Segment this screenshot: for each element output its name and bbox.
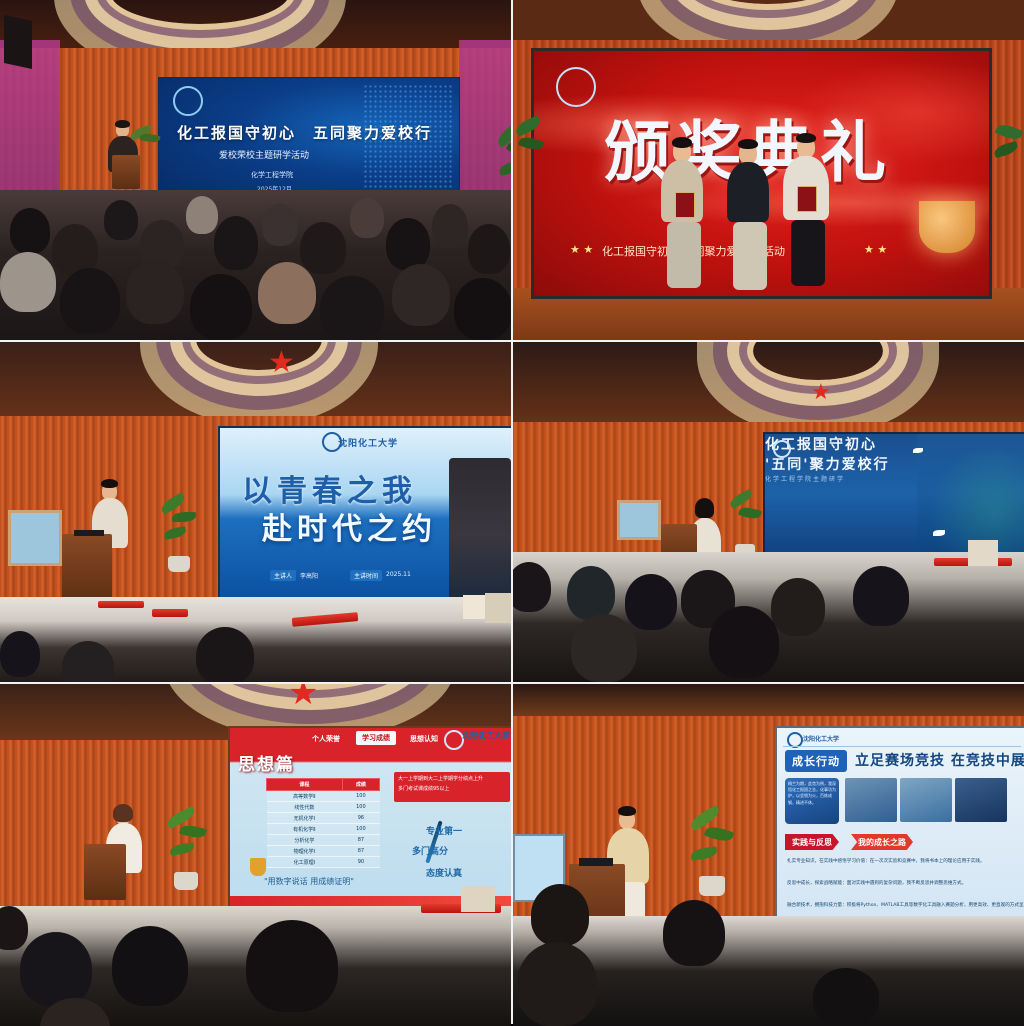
university-emblem-icon	[556, 67, 596, 107]
university-emblem-icon	[444, 730, 464, 750]
cell-score: 96	[342, 813, 379, 824]
chevron-practice-reflection: 实践与反思	[785, 834, 839, 850]
table-row: 无机化学Ⅰ96	[267, 813, 380, 824]
table-row: 物理化学Ⅰ87	[267, 846, 380, 857]
speaker-portrait	[449, 458, 511, 598]
desk-rows-and-audience	[513, 916, 1024, 1026]
trophy-icon	[250, 858, 266, 876]
time-label: 主讲时间	[350, 570, 382, 581]
slide-side-quote: 稠兰为期，此苋为例，我深悟化工报国之志，化事功为炉，以坚韧为火，百炼成钢，精进不…	[785, 778, 839, 824]
stage-screen-3: 沈阳化工大学 以青春之我 赴时代之约 化学工程学院 · 化卓越2201班 主讲人…	[218, 426, 511, 605]
cell-course: 有机化学Ⅱ	[267, 824, 343, 835]
photo-panel-3: ★ 沈阳化工大学 以青春之我 赴时代之约 化学工程学院 · 化卓越2201班 主…	[0, 342, 511, 682]
gift-bag	[968, 540, 998, 566]
competition-thumbnails	[845, 778, 1007, 822]
stars-right: ★ ★	[864, 243, 887, 256]
keyword-3: 态度认真	[426, 866, 462, 879]
red-banner-roll	[292, 612, 359, 627]
slide-paragraph-2: 反思中成长，探索战略赋能：面对实践中遇到的复杂问题，我不断反思并调整思维方式。	[787, 880, 1015, 888]
university-emblem-icon	[773, 440, 791, 458]
time-value: 2025.11	[386, 571, 411, 578]
podium	[84, 844, 126, 900]
cell-course: 分析化学	[267, 835, 343, 846]
cell-course: 线性代数	[267, 802, 343, 813]
bird-graphic	[913, 448, 923, 453]
bullet-1: 大一上学期到大二上学期学分绩点上升	[398, 775, 506, 785]
photo-panel-2: 颁奖典礼 ★ ★ 化工报国守初心 五同聚力爱校行 活动 ★ ★	[513, 0, 1024, 340]
gift-bag	[461, 886, 495, 912]
competition-photo-2	[900, 778, 952, 822]
trophy-icon	[919, 201, 975, 253]
photo-panel-6: 沈阳化工大学 成长行动 立足赛场竞技 在竞技中展现 稠兰为期，此苋为例，我深悟化…	[513, 684, 1024, 1026]
nav-item-ideology[interactable]: 思想认知	[410, 734, 438, 744]
cell-course: 化工原理Ⅰ	[267, 857, 343, 868]
red-star-icon: ★	[811, 382, 831, 404]
slide-quote: "用数字说话 用成绩证明"	[264, 876, 354, 887]
slide-headline: 立足赛场竞技 在竞技中展现	[855, 750, 1024, 770]
slide-subtitle: 爱校荣校主题研学活动	[219, 148, 309, 161]
university-name: 沈阳化工大学	[462, 730, 510, 741]
chevron-growth-path: 我的成长之路	[851, 834, 913, 850]
highlight-bullets-box: 大一上学期到大二上学期学分绩点上升 多门考试课成绩95以上	[394, 772, 510, 802]
cell-score: 100	[342, 791, 379, 802]
keyword-1: 专业第一	[426, 824, 462, 837]
cell-score: 90	[342, 857, 379, 868]
slide-section-title: 思想篇	[238, 750, 295, 775]
desk-rows-and-audience	[513, 552, 1024, 682]
table-row: 线性代数100	[267, 802, 380, 813]
slide-title-line2: 赴时代之约	[262, 504, 437, 548]
wall-artwork	[8, 510, 62, 566]
grades-table: 课程 成绩 高等数学Ⅱ100 线性代数100 无机化学Ⅰ96 有机化学Ⅱ100 …	[266, 778, 380, 868]
red-banner-roll	[98, 601, 144, 608]
desk-rows	[0, 597, 511, 682]
laptop	[74, 530, 104, 536]
cell-score: 87	[342, 846, 379, 857]
podium	[112, 155, 140, 189]
nav-item-grades-active[interactable]: 学习成绩	[356, 731, 396, 745]
table-row: 有机化学Ⅱ100	[267, 824, 380, 835]
slide-paragraph-3: 融合新技术，拥抱科技力量：积极将Python、MATLAB工具等数字化工具融入赛…	[787, 902, 1015, 910]
nav-item-honors[interactable]: 个人荣誉	[312, 734, 340, 744]
gift-bag	[485, 593, 511, 623]
gift-box	[463, 595, 485, 619]
speaker-name: 李高阳	[300, 571, 318, 580]
desk-rows-and-audience	[0, 906, 511, 1026]
slide-paragraph-1: 扎实专业知识，在实践中感悟学习价值：在一次次实验和竞赛中，我将书本上的理论应用于…	[787, 858, 1015, 866]
speaker-label: 主讲人	[270, 570, 296, 581]
audience-area	[0, 190, 511, 340]
laptop	[579, 858, 613, 866]
competition-photo-1	[845, 778, 897, 822]
col-score: 成绩	[342, 779, 379, 791]
slide-tag: 成长行动	[785, 750, 847, 772]
red-star-icon: ★	[268, 348, 295, 378]
ceiling-speaker	[4, 15, 32, 69]
photo-panel-4: ★ 化工报国守初心 '五同'聚力爱校行 化学工程学院主题研学	[513, 342, 1024, 682]
bullet-2: 多门考试课成绩95以上	[398, 785, 506, 795]
table-header-row: 课程 成绩	[267, 779, 380, 791]
table-row: 分析化学87	[267, 835, 380, 846]
podium	[62, 534, 112, 604]
keyword-2: 多门高分	[412, 844, 448, 857]
cell-score: 100	[342, 824, 379, 835]
cell-course: 无机化学Ⅰ	[267, 813, 343, 824]
photo-collage: 化工报国守初心 五同聚力爱校行 爱校荣校主题研学活动 化学工程学院 2025年1…	[0, 0, 1024, 1024]
stage-screen-1: 化工报国守初心 五同聚力爱校行 爱校荣校主题研学活动 化学工程学院 2025年1…	[158, 77, 460, 204]
cell-score: 87	[342, 835, 379, 846]
slide-title: 化工报国守初心 五同聚力爱校行	[177, 122, 432, 143]
cell-course: 高等数学Ⅱ	[267, 791, 343, 802]
photo-panel-5: ★ 个人荣誉 学习成绩 思想认知 沈阳化工大学 思想篇 课程 成绩 高等	[0, 684, 511, 1026]
competition-photo-3	[955, 778, 1007, 822]
slide-org: 化学工程学院	[251, 170, 293, 180]
red-star-icon: ★	[288, 684, 318, 710]
cell-course: 物理化学Ⅰ	[267, 846, 343, 857]
table-row: 高等数学Ⅱ100	[267, 791, 380, 802]
divider	[783, 746, 1021, 747]
university-name: 沈阳化工大学	[803, 734, 839, 743]
wall-artwork	[617, 500, 661, 540]
red-banner-roll	[152, 609, 188, 617]
photo-panel-1: 化工报国守初心 五同聚力爱校行 爱校荣校主题研学活动 化学工程学院 2025年1…	[0, 0, 511, 340]
university-name: 沈阳化工大学	[338, 436, 398, 449]
table-row: 化工原理Ⅰ90	[267, 857, 380, 868]
stars-left: ★ ★	[570, 243, 593, 256]
slide-nav-bar: 个人荣誉 学习成绩 思想认知 沈阳化工大学	[230, 728, 511, 752]
university-emblem-icon	[173, 86, 203, 116]
cell-score: 100	[342, 802, 379, 813]
bird-graphic	[933, 530, 945, 536]
stage-screen-6: 沈阳化工大学 成长行动 立足赛场竞技 在竞技中展现 稠兰为期，此苋为例，我深悟化…	[775, 726, 1024, 945]
col-course: 课程	[267, 779, 343, 791]
